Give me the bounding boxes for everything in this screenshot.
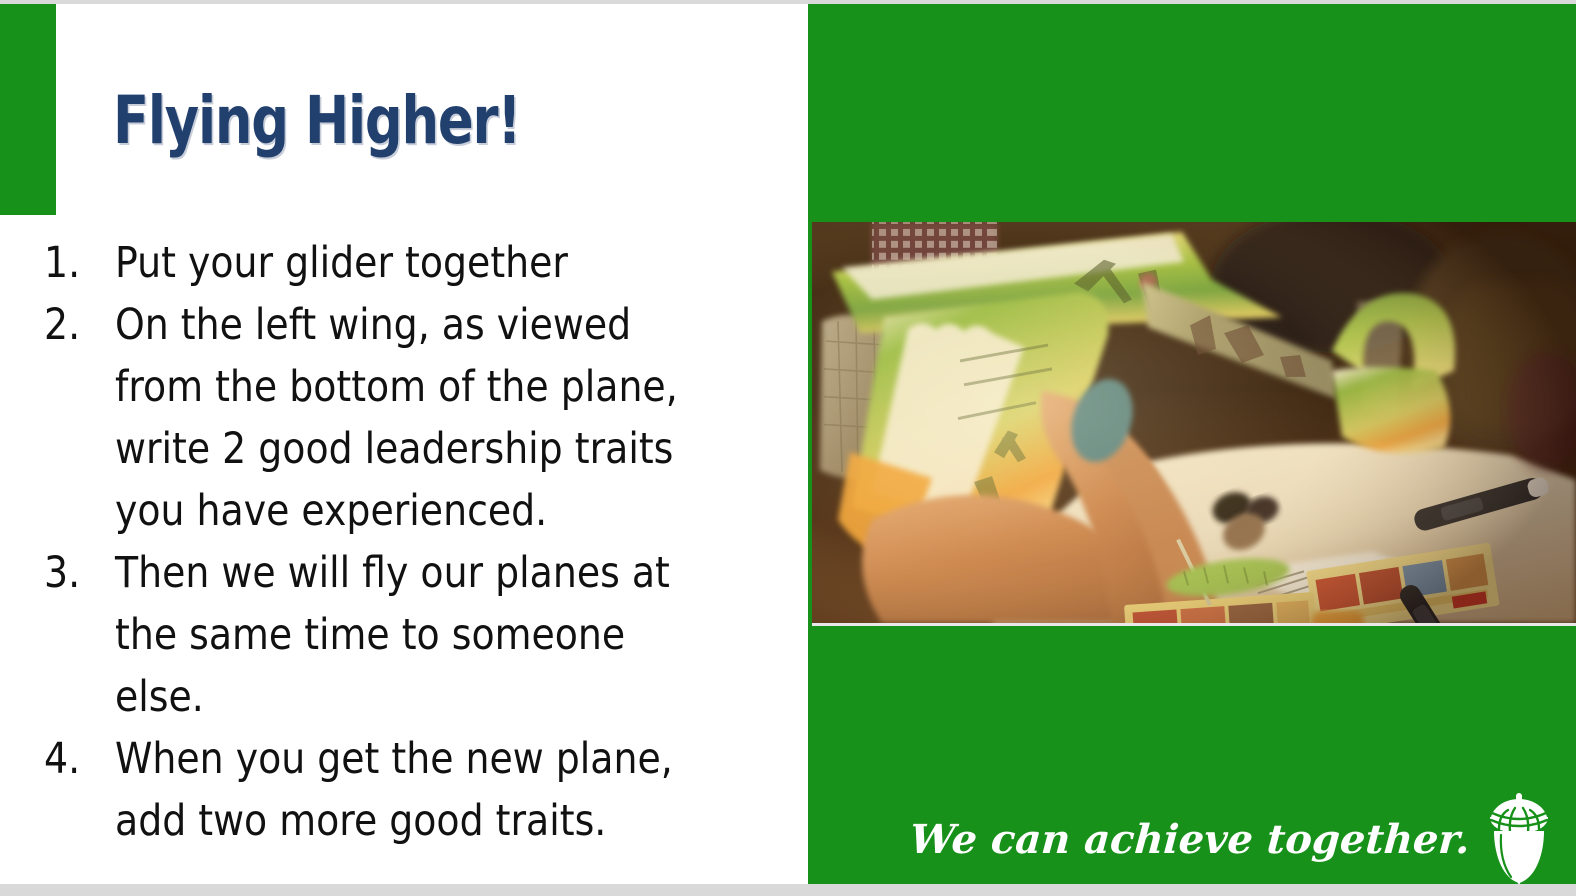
list-item-number: 4.: [44, 728, 106, 790]
slide-media-pane: We can achieve together.: [808, 4, 1576, 884]
list-item-number: 3.: [44, 542, 106, 604]
tagline: We can achieve together.: [909, 816, 1472, 863]
page-title: Flying Higher!: [113, 88, 641, 154]
list-item-text: When you get the new plane, add two more…: [115, 728, 708, 852]
list-item: 2. On the left wing, as viewed from the …: [44, 294, 789, 542]
glider-photo: [812, 222, 1576, 626]
green-accent-bar: [0, 4, 56, 215]
list-item-text: Then we will fly our planes at the same …: [115, 542, 708, 728]
list-item-text: On the left wing, as viewed from the bot…: [115, 294, 708, 542]
presentation-slide: Flying Higher! 1. Put your glider togeth…: [0, 0, 1576, 896]
acorn-icon: [1486, 793, 1552, 884]
list-item: 3. Then we will fly our planes at the sa…: [44, 542, 789, 728]
glider-photo-image: [812, 222, 1576, 623]
slide-bottom-border: [0, 884, 1576, 896]
list-item: 1. Put your glider together: [44, 232, 789, 294]
instructions-list: 1. Put your glider together 2. On the le…: [44, 232, 789, 852]
list-item-number: 1.: [44, 232, 106, 294]
slide-content-pane: Flying Higher! 1. Put your glider togeth…: [0, 4, 808, 884]
branding-row: We can achieve together.: [808, 790, 1576, 884]
list-item-number: 2.: [44, 294, 106, 356]
list-item-text: Put your glider together: [115, 232, 708, 294]
list-item: 4. When you get the new plane, add two m…: [44, 728, 789, 852]
